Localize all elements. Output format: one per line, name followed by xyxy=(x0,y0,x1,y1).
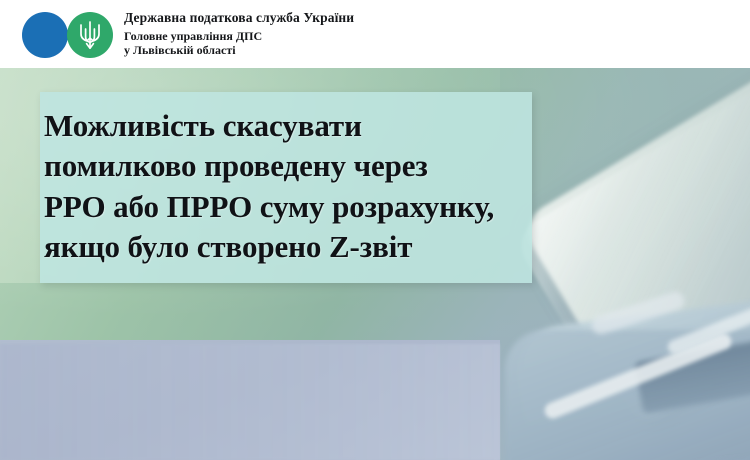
site-header: Державна податкова служба України Головн… xyxy=(0,0,750,68)
organization-title: Державна податкова служба України xyxy=(124,11,750,25)
headline-line-4: якщо було створено Z-звіт xyxy=(44,227,516,267)
banner-page: Державна податкова служба України Головн… xyxy=(0,0,750,460)
ukrainian-trident-icon xyxy=(67,12,113,58)
department-line-1: Головне управління ДПС xyxy=(124,30,750,43)
headline-line-2: помилково проведену через xyxy=(44,146,516,186)
blue-circle-icon xyxy=(22,12,68,58)
department-title: Головне управління ДПС у Львівській обла… xyxy=(124,30,750,57)
header-titles: Державна податкова служба України Головн… xyxy=(110,11,750,57)
headline-line-3: РРО або ПРРО суму розрахунку, xyxy=(44,187,516,227)
photo-bottom-panel-sheen xyxy=(0,344,500,460)
logo[interactable] xyxy=(10,6,110,62)
headline-line-1: Можливість скасувати xyxy=(44,106,516,146)
department-line-2: у Львівській області xyxy=(124,44,750,57)
page-title: Можливість скасувати помилково проведену… xyxy=(44,106,516,267)
headline-overlay-card: Можливість скасувати помилково проведену… xyxy=(40,92,532,283)
